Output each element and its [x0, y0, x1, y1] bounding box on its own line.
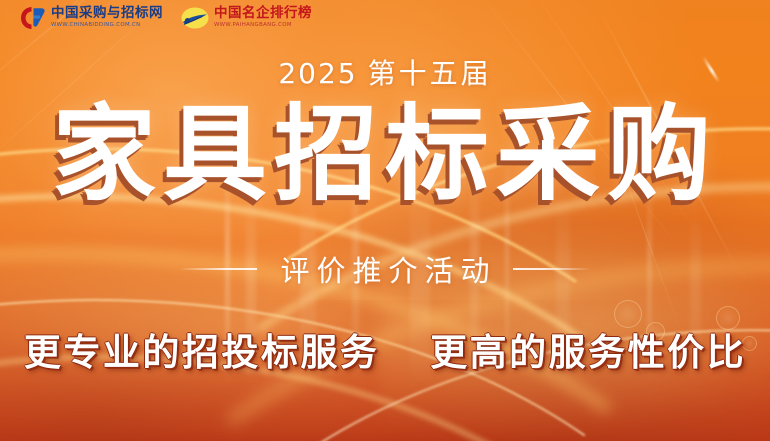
edition-text: 第十五届 — [368, 57, 492, 90]
year-text: 2025 — [278, 57, 357, 90]
logo-name: 中国名企排行榜 — [214, 7, 312, 21]
page-title: 家具招标采购 — [0, 96, 770, 212]
logo-text-block: 中国采购与招标网 WWW.CHINABIDDING.COM.CN — [51, 7, 163, 28]
tagline-part-1: 更专业的招投标服务 — [24, 331, 380, 374]
logo-url: WWW.CHINABIDDING.COM.CN — [51, 23, 163, 28]
tagline: 更专业的招投标服务 更高的服务性价比 — [0, 322, 770, 376]
tagline-part-2: 更高的服务性价比 — [430, 331, 746, 374]
logo-url: WWW.PAIHANGBANG.COM — [214, 23, 312, 28]
rule-left-divider — [179, 268, 257, 270]
china-bidding-logo-icon — [20, 6, 46, 30]
gold-arc — [0, 194, 770, 441]
logo-chinabidding[interactable]: 中国采购与招标网 WWW.CHINABIDDING.COM.CN — [20, 6, 163, 30]
logo-text-block: 中国名企排行榜 WWW.PAIHANGBANG.COM — [214, 7, 312, 28]
rule-right-divider — [513, 268, 591, 270]
china-brand-ranking-logo-icon — [181, 7, 209, 29]
logo-paihangbang[interactable]: 中国名企排行榜 WWW.PAIHANGBANG.COM — [181, 7, 312, 29]
subtitle-text: 评价推介活动 — [273, 248, 496, 290]
logo-name: 中国采购与招标网 — [51, 7, 163, 21]
logo-bar: 中国采购与招标网 WWW.CHINABIDDING.COM.CN 中国名企排行榜… — [20, 6, 312, 30]
subtitle-row: 评价推介活动 — [0, 248, 770, 290]
year-edition-line: 2025第十五届 — [0, 52, 770, 92]
promo-banner: 中国采购与招标网 WWW.CHINABIDDING.COM.CN 中国名企排行榜… — [0, 0, 770, 441]
